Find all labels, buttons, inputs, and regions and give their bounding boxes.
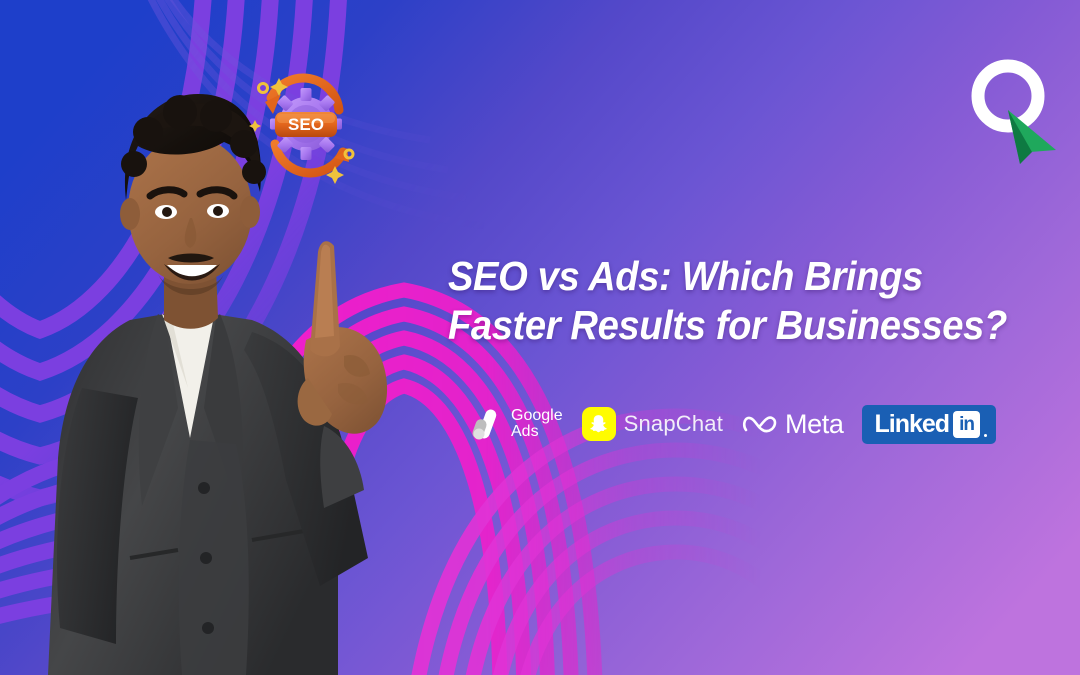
company-logo[interactable] <box>962 52 1062 164</box>
logo-meta[interactable]: Meta <box>742 402 843 446</box>
linkedin-badge: Linked in <box>862 405 996 444</box>
logo-snapchat[interactable]: SnapChat <box>582 402 723 446</box>
headline-line-1: SEO vs Ads: Which Brings <box>448 252 1006 301</box>
linkedin-in-box: in <box>953 411 980 438</box>
linkedin-registered-dot <box>984 434 987 437</box>
headline: SEO vs Ads: Which Brings Faster Results … <box>448 252 1006 350</box>
headline-line-2: Faster Results for Businesses? <box>448 301 1006 350</box>
promo-banner: SEO SEO vs Ads: Which Brings Faster Resu… <box>0 0 1080 675</box>
seo-gear-icon: SEO <box>239 58 373 192</box>
google-ads-label-line2: Ads <box>511 424 563 440</box>
presenter-photo <box>38 88 438 675</box>
meta-label: Meta <box>785 409 843 440</box>
snapchat-tile <box>582 407 616 441</box>
platform-logo-strip: Google Ads SnapChat Meta Linked in <box>470 400 996 448</box>
seo-badge-label: SEO <box>288 115 324 134</box>
google-ads-label: Google Ads <box>511 408 563 440</box>
google-ads-label-line1: Google <box>511 408 563 424</box>
google-ads-icon <box>470 407 506 441</box>
snapchat-label: SnapChat <box>624 411 723 437</box>
snapchat-ghost-icon <box>587 413 610 436</box>
linkedin-label: Linked <box>874 410 949 439</box>
logo-google-ads[interactable]: Google Ads <box>470 402 563 446</box>
meta-infinity-icon <box>742 413 778 435</box>
logo-linkedin[interactable]: Linked in <box>862 402 996 446</box>
